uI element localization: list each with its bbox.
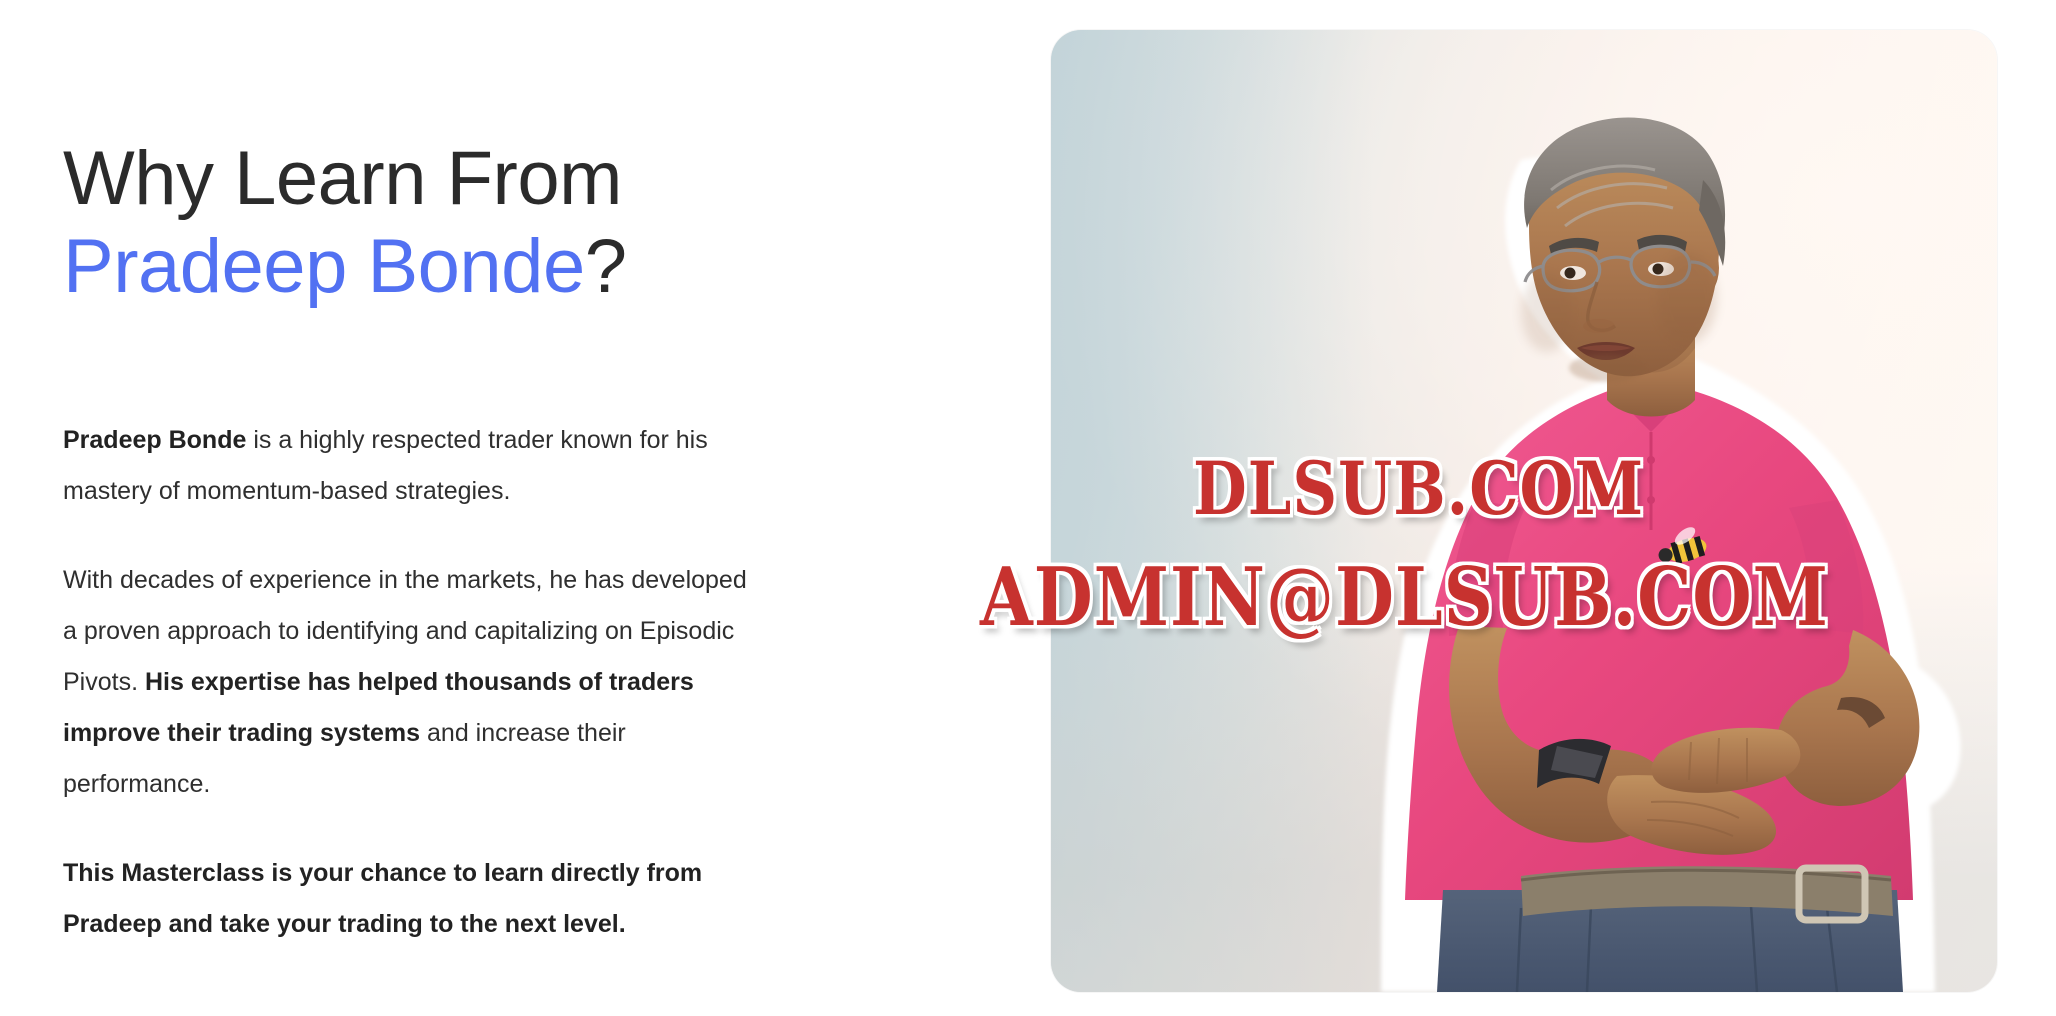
paragraph-1: Pradeep Bonde is a highly respected trad…: [63, 415, 763, 517]
headline-accent-name: Pradeep Bonde: [63, 224, 585, 309]
text-column: Why Learn From Pradeep Bonde? Pradeep Bo…: [0, 0, 1000, 1016]
speaker-photo-card: [1051, 30, 1997, 992]
body-copy: Pradeep Bonde is a highly respected trad…: [63, 415, 763, 950]
paragraph-2: With decades of experience in the market…: [63, 555, 763, 810]
paragraph-3: This Masterclass is your chance to learn…: [63, 848, 763, 950]
page-title: Why Learn From Pradeep Bonde?: [63, 135, 627, 311]
paragraph-1-strong: Pradeep Bonde: [63, 426, 246, 454]
speaker-photo: [1051, 30, 1997, 992]
headline-line-1: Why Learn From: [63, 135, 627, 223]
slide-root: Why Learn From Pradeep Bonde? Pradeep Bo…: [0, 0, 2056, 1016]
headline-question-mark: ?: [585, 224, 627, 309]
headline-line-2: Pradeep Bonde?: [63, 223, 627, 311]
